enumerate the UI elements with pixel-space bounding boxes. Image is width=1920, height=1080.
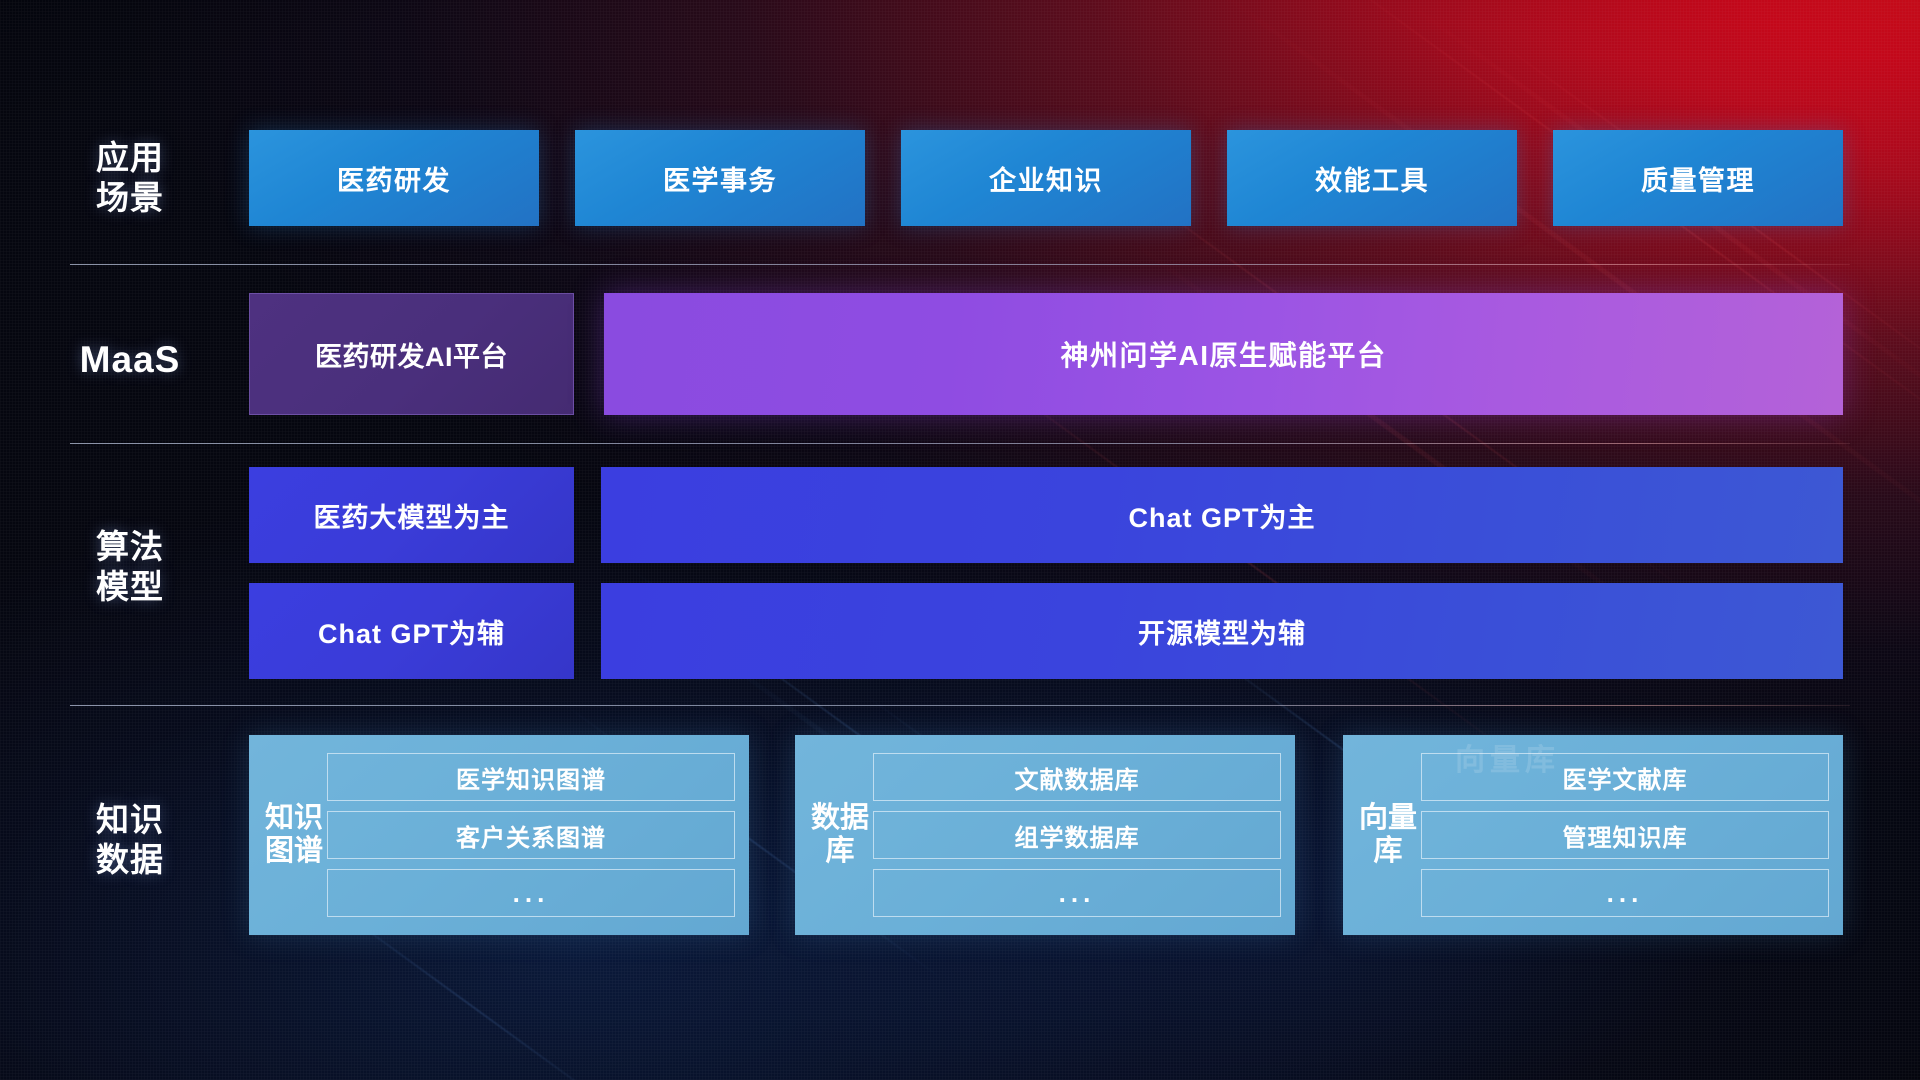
knowledge-item-1-1[interactable]: 医学知识图谱 — [327, 753, 735, 801]
model-box-secondary-chatgpt[interactable]: Chat GPT为辅 — [249, 583, 574, 679]
row-label-models-line2: 模型 — [70, 567, 190, 607]
knowledge-card-knowledge-graph[interactable]: 知识图谱 医学知识图谱 客户关系图谱 ... — [249, 735, 749, 935]
knowledge-item-2-3[interactable]: ... — [873, 869, 1281, 917]
scenario-box-3[interactable]: 企业知识 — [901, 130, 1191, 226]
divider-maas-models — [70, 443, 1850, 444]
knowledge-card-title-2: 数据库 — [807, 802, 873, 868]
knowledge-item-1-2[interactable]: 客户关系图谱 — [327, 811, 735, 859]
row-label-knowledge-line1: 知识 — [70, 800, 190, 840]
model-box-primary-chatgpt[interactable]: Chat GPT为主 — [601, 467, 1843, 563]
scenario-box-1[interactable]: 医药研发 — [249, 130, 539, 226]
row-label-models: 算法 模型 — [70, 527, 190, 608]
maas-platform-medical[interactable]: 医药研发AI平台 — [249, 293, 574, 415]
model-box-secondary-opensource[interactable]: 开源模型为辅 — [601, 583, 1843, 679]
knowledge-card-items-3: 医学文献库 管理知识库 ... — [1421, 745, 1829, 925]
knowledge-item-3-1[interactable]: 医学文献库 — [1421, 753, 1829, 801]
row-label-maas-text: MaaS — [70, 337, 190, 382]
knowledge-item-3-2[interactable]: 管理知识库 — [1421, 811, 1829, 859]
knowledge-card-items-2: 文献数据库 组学数据库 ... — [873, 745, 1281, 925]
scenario-box-4[interactable]: 效能工具 — [1227, 130, 1517, 226]
maas-platform-shenzhou-label: 神州问学AI原生赋能平台 — [1060, 334, 1386, 374]
scenario-label-3: 企业知识 — [989, 159, 1103, 198]
row-label-scenarios-line2: 场景 — [70, 178, 190, 218]
row-label-maas: MaaS — [70, 337, 190, 382]
knowledge-item-2-2[interactable]: 组学数据库 — [873, 811, 1281, 859]
knowledge-card-vector-store[interactable]: 向量库 医学文献库 管理知识库 ... — [1343, 735, 1843, 935]
model-label-primary-medical: 医药大模型为主 — [314, 496, 510, 535]
divider-models-knowledge — [70, 705, 1850, 706]
knowledge-card-title-1: 知识图谱 — [261, 802, 327, 868]
knowledge-item-3-3[interactable]: ... — [1421, 869, 1829, 917]
scenario-label-1: 医药研发 — [337, 159, 451, 198]
model-box-primary-medical[interactable]: 医药大模型为主 — [249, 467, 574, 563]
knowledge-card-items-1: 医学知识图谱 客户关系图谱 ... — [327, 745, 735, 925]
maas-platform-medical-label: 医药研发AI平台 — [315, 335, 508, 374]
row-label-scenarios: 应用 场景 — [70, 138, 190, 219]
knowledge-item-1-3[interactable]: ... — [327, 869, 735, 917]
row-label-knowledge: 知识 数据 — [70, 800, 190, 881]
knowledge-card-title-3: 向量库 — [1355, 802, 1421, 868]
scenario-label-4: 效能工具 — [1315, 159, 1429, 198]
model-label-primary-chatgpt: Chat GPT为主 — [1128, 496, 1315, 535]
scenario-label-2: 医学事务 — [663, 159, 777, 198]
architecture-diagram: 应用 场景 医药研发 医学事务 企业知识 效能工具 质量管理 MaaS 医药研发… — [0, 0, 1920, 1080]
maas-platform-shenzhou[interactable]: 神州问学AI原生赋能平台 — [604, 293, 1843, 415]
row-label-knowledge-line2: 数据 — [70, 840, 190, 880]
scenario-box-2[interactable]: 医学事务 — [575, 130, 865, 226]
model-label-secondary-opensource: 开源模型为辅 — [1138, 612, 1306, 651]
scenario-box-5[interactable]: 质量管理 — [1553, 130, 1843, 226]
row-label-models-line1: 算法 — [70, 527, 190, 567]
scenario-label-5: 质量管理 — [1641, 159, 1755, 198]
knowledge-item-2-1[interactable]: 文献数据库 — [873, 753, 1281, 801]
divider-scenarios-maas — [70, 264, 1850, 265]
knowledge-card-database[interactable]: 数据库 文献数据库 组学数据库 ... — [795, 735, 1295, 935]
row-label-scenarios-line1: 应用 — [70, 138, 190, 178]
model-label-secondary-chatgpt: Chat GPT为辅 — [318, 612, 505, 651]
